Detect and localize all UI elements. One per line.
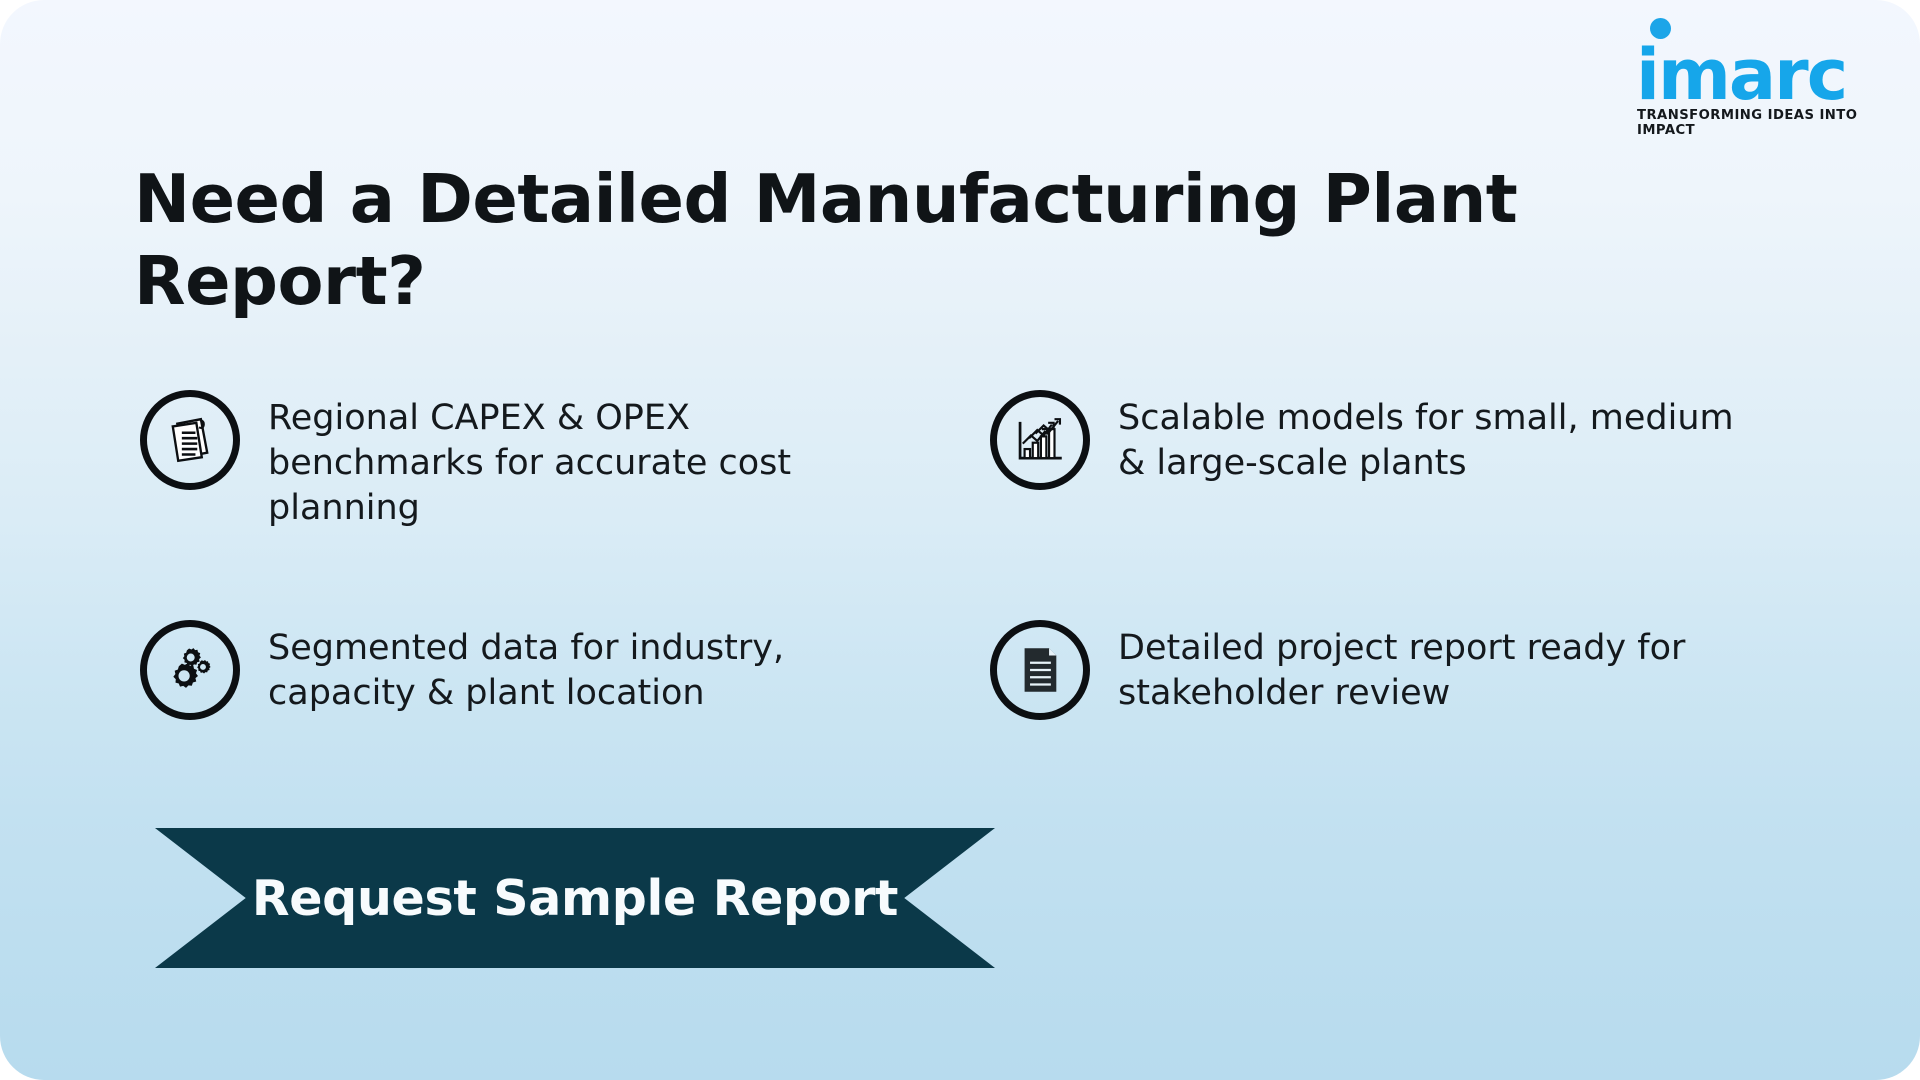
request-sample-report-button[interactable]: Request Sample Report [155, 828, 995, 968]
cta-label: Request Sample Report [252, 870, 898, 927]
feature-item-scalable-models: Scalable models for small, medium & larg… [990, 390, 1800, 620]
promo-card: imarc TRANSFORMING IDEAS INTO IMPACT Nee… [0, 0, 1920, 1080]
feature-item-project-report: Detailed project report ready for stakeh… [990, 620, 1800, 720]
feature-item-segmented-data: Segmented data for industry, capacity & … [140, 620, 990, 720]
documents-stack-icon [140, 390, 240, 490]
growth-bar-chart-icon [990, 390, 1090, 490]
document-lines-icon [990, 620, 1090, 720]
logo-wordmark: imarc [1634, 10, 1896, 114]
feature-list: Regional CAPEX & OPEX benchmarks for acc… [140, 390, 1800, 720]
feature-item-label: Segmented data for industry, capacity & … [268, 620, 888, 716]
logo-dot-icon [1650, 18, 1671, 39]
logo-tagline: TRANSFORMING IDEAS INTO IMPACT [1634, 108, 1896, 138]
feature-item-label: Detailed project report ready for stakeh… [1118, 620, 1738, 716]
feature-item-label: Scalable models for small, medium & larg… [1118, 390, 1738, 486]
gears-icon [140, 620, 240, 720]
feature-item-label: Regional CAPEX & OPEX benchmarks for acc… [268, 390, 888, 531]
page-title: Need a Detailed Manufacturing Plant Repo… [134, 158, 1604, 322]
imarc-logo: imarc TRANSFORMING IDEAS INTO IMPACT [1634, 10, 1896, 138]
feature-item-capex-opex: Regional CAPEX & OPEX benchmarks for acc… [140, 390, 990, 620]
